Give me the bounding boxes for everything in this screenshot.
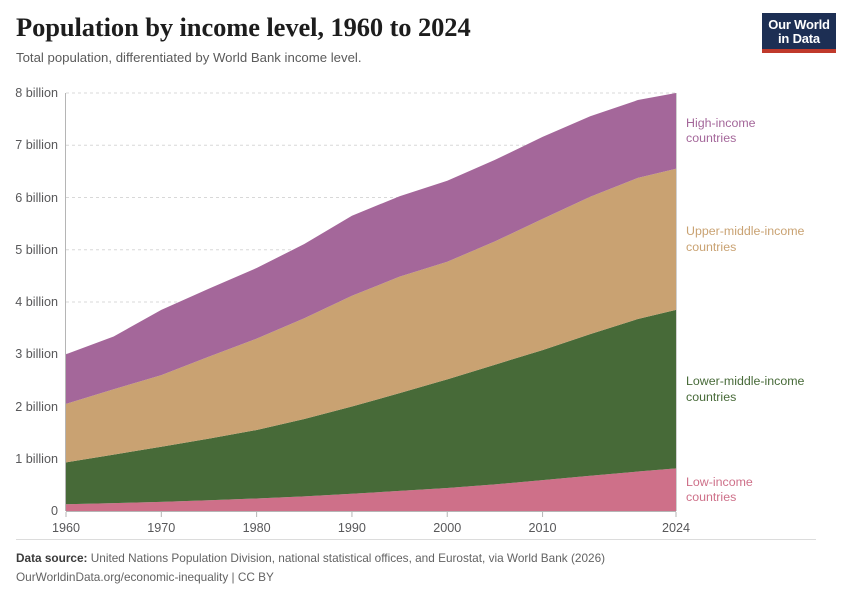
y-tick-label: 7 billion bbox=[15, 138, 58, 152]
series-label-lower-middle-income-countries[interactable]: Lower-middle-incomecountries bbox=[686, 374, 804, 405]
series-label-high-income-countries[interactable]: High-incomecountries bbox=[686, 116, 756, 147]
chart-x-tick-marks bbox=[66, 512, 676, 517]
x-tick-label: 2024 bbox=[662, 521, 690, 535]
x-tick-label: 1960 bbox=[52, 521, 80, 535]
series-label-upper-middle-income-countries[interactable]: Upper-middle-incomecountries bbox=[686, 224, 804, 255]
chart-footer: Data source: United Nations Population D… bbox=[16, 539, 816, 586]
y-tick-label: 3 billion bbox=[15, 347, 58, 361]
series-label-line-1: Low-income bbox=[686, 475, 753, 491]
data-source-line: Data source: United Nations Population D… bbox=[16, 549, 816, 567]
series-label-line-1: High-income bbox=[686, 116, 756, 132]
x-tick-label: 1970 bbox=[147, 521, 175, 535]
our-world-in-data-logo[interactable]: Our World in Data bbox=[762, 13, 836, 53]
y-tick-label: 1 billion bbox=[15, 452, 58, 466]
series-label-line-2: countries bbox=[686, 240, 804, 256]
series-label-line-2: countries bbox=[686, 490, 753, 506]
page-title: Population by income level, 1960 to 2024 bbox=[16, 12, 746, 43]
stacked-area-chart-svg[interactable] bbox=[0, 82, 850, 534]
data-source-label: Data source: bbox=[16, 551, 87, 565]
series-label-line-2: countries bbox=[686, 390, 804, 406]
y-tick-label: 0 bbox=[51, 504, 58, 518]
x-tick-label: 1990 bbox=[338, 521, 366, 535]
y-tick-label: 6 billion bbox=[15, 191, 58, 205]
chart-plot-area[interactable]: 01 billion2 billion3 billion4 billion5 b… bbox=[0, 82, 850, 534]
chart-page: Population by income level, 1960 to 2024… bbox=[0, 0, 850, 600]
y-tick-label: 8 billion bbox=[15, 86, 58, 100]
series-label-line-1: Upper-middle-income bbox=[686, 224, 804, 240]
x-tick-label: 2010 bbox=[529, 521, 557, 535]
y-tick-label: 4 billion bbox=[15, 295, 58, 309]
license-line[interactable]: OurWorldinData.org/economic-inequality |… bbox=[16, 568, 816, 586]
series-label-line-2: countries bbox=[686, 131, 756, 147]
series-label-low-income-countries[interactable]: Low-incomecountries bbox=[686, 475, 753, 506]
x-tick-label: 1980 bbox=[243, 521, 271, 535]
x-tick-label: 2000 bbox=[433, 521, 461, 535]
data-source-text: United Nations Population Division, nati… bbox=[91, 551, 605, 565]
chart-subtitle: Total population, differentiated by Worl… bbox=[16, 49, 746, 66]
series-label-line-1: Lower-middle-income bbox=[686, 374, 804, 390]
y-tick-label: 5 billion bbox=[15, 243, 58, 257]
logo-line-2: in Data bbox=[768, 32, 830, 46]
y-tick-label: 2 billion bbox=[15, 400, 58, 414]
logo-line-1: Our World bbox=[768, 18, 830, 32]
chart-header: Population by income level, 1960 to 2024… bbox=[16, 12, 746, 66]
